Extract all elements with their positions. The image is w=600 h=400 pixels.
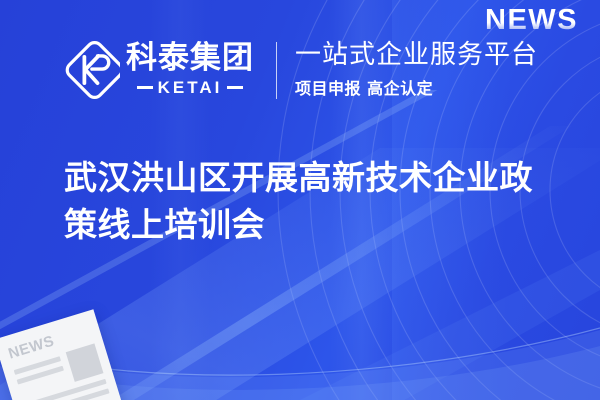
tagline-main: 一站式企业服务平台	[295, 41, 538, 71]
logo-wordmark: 科泰集团 KETAI	[126, 42, 254, 97]
tagline-block: 一站式企业服务平台 项目申报 高企认定	[295, 41, 538, 99]
news-banner: NEWS 科泰集团 KETAI 一站式企业服务平台 项目申报 高企认定 武	[0, 0, 600, 400]
header-divider	[276, 42, 277, 99]
tagline-sub: 项目申报 高企认定	[295, 75, 538, 99]
newspaper-text-lines	[13, 354, 68, 398]
dash-right-decoration	[227, 86, 243, 89]
brand-header: 科泰集团 KETAI 一站式企业服务平台 项目申报 高企认定	[60, 40, 538, 100]
news-wordmark: NEWS	[485, 6, 578, 35]
dash-left-decoration	[137, 86, 153, 89]
company-name-en: KETAI	[158, 78, 223, 98]
company-name-en-row: KETAI	[137, 78, 244, 98]
ketai-k-diamond-logo-icon	[60, 40, 120, 100]
newspaper-thumbnail	[66, 343, 104, 381]
company-name-cn: 科泰集团	[126, 42, 254, 75]
headline-title: 武汉洪山区开展高新技术企业政策线上培训会	[64, 155, 554, 249]
